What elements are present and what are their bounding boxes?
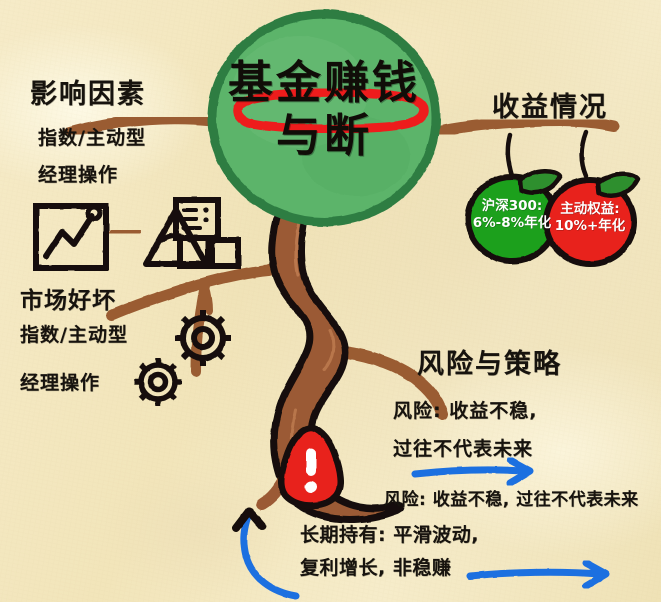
branch-heading-top-left[interactable]: 影响因素 <box>30 72 146 111</box>
note-hold-line2: 复利增长, 非稳赚 <box>300 553 451 580</box>
branch-item-mid-left-1: 经理操作 <box>20 368 100 395</box>
gear-icon-small <box>134 358 182 406</box>
branch-item-mid-left-0: 指数/主动型 <box>20 320 128 347</box>
branch-item-mid-right-0: 风险: 收益不稳, <box>393 396 537 423</box>
blue-arrow-right-bottom <box>470 563 606 586</box>
fruit-red-line1: 主动权益: <box>540 201 640 218</box>
fruit-red-line2: 10%+年化 <box>540 218 640 235</box>
note-risk-line: 风险: 收益不稳, 过往不代表未来 <box>384 485 639 510</box>
document-icon <box>176 200 218 238</box>
branch-heading-mid-left[interactable]: 市场好坏 <box>20 281 116 315</box>
branch-item-mid-right-1: 过往不代表未来 <box>393 434 533 461</box>
blue-arrow-right-top <box>415 460 530 483</box>
blue-curved-arrow-up <box>236 511 296 596</box>
note-hold-line1: 长期持有: 平滑波动, <box>300 520 479 547</box>
icon-connector <box>112 231 138 233</box>
fruit-red-label: 主动权益: 10%+年化 <box>540 201 640 235</box>
center-title-line1: 基金赚钱 <box>208 56 440 109</box>
branch-item-top-left-0: 指数/主动型 <box>38 123 146 150</box>
branch-heading-mid-right[interactable]: 风险与策略 <box>417 342 562 381</box>
branch-item-top-left-1: 经理操作 <box>38 160 118 187</box>
chart-icon <box>36 206 106 268</box>
center-title-line2: 与断 <box>208 109 440 162</box>
gear-icon-large <box>175 310 231 366</box>
branch-heading-top-right[interactable]: 收益情况 <box>492 85 608 124</box>
mindmap-canvas: 基金赚钱 与断 影响因素 指数/主动型 经理操作 市场好坏 指数/主动型 经理操… <box>0 0 661 602</box>
center-title: 基金赚钱 与断 <box>208 56 440 162</box>
